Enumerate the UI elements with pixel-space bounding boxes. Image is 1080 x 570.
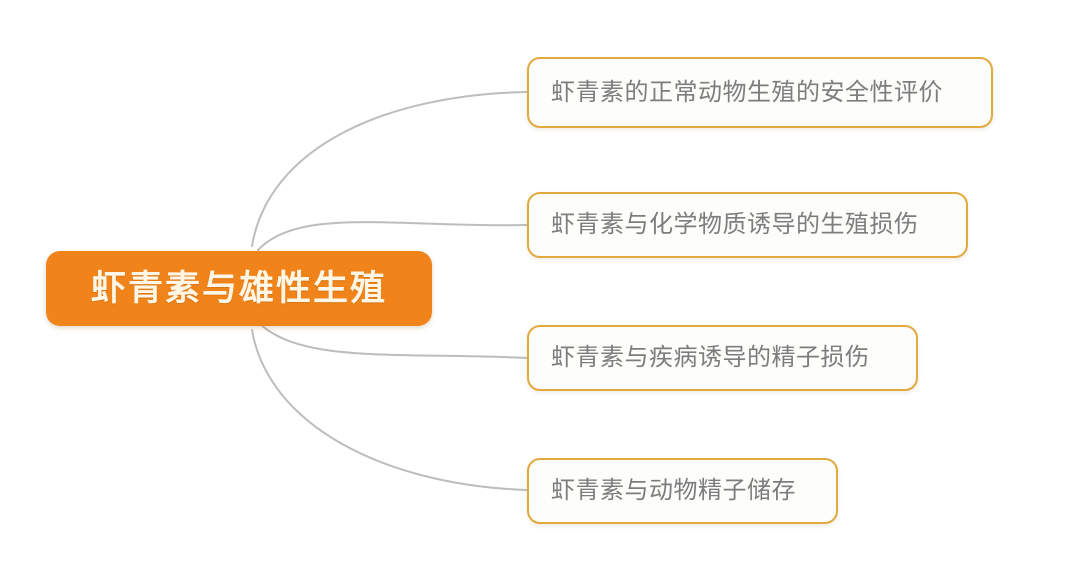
branch-node-1[interactable]: 虾青素与化学物质诱导的生殖损伤 — [527, 192, 968, 258]
branch-node-0-label: 虾青素的正常动物生殖的安全性评价 — [529, 81, 943, 105]
branch-node-2-label: 虾青素与疾病诱导的精子损伤 — [529, 346, 870, 370]
branch-node-0[interactable]: 虾青素的正常动物生殖的安全性评价 — [527, 57, 993, 128]
branch-node-2[interactable]: 虾青素与疾病诱导的精子损伤 — [527, 325, 918, 391]
root-node-label: 虾青素与雄性生殖 — [91, 271, 387, 306]
connector-to-branch-3 — [252, 330, 527, 490]
connector-to-branch-2 — [258, 322, 527, 358]
mindmap-canvas: 虾青素与雄性生殖 虾青素的正常动物生殖的安全性评价 虾青素与化学物质诱导的生殖损… — [0, 0, 1080, 570]
branch-node-3-label: 虾青素与动物精子储存 — [529, 479, 796, 503]
connector-to-branch-0 — [252, 92, 527, 246]
root-node[interactable]: 虾青素与雄性生殖 — [46, 251, 432, 326]
connector-to-branch-1 — [258, 222, 527, 250]
branch-node-3[interactable]: 虾青素与动物精子储存 — [527, 458, 838, 524]
branch-node-1-label: 虾青素与化学物质诱导的生殖损伤 — [529, 213, 919, 237]
